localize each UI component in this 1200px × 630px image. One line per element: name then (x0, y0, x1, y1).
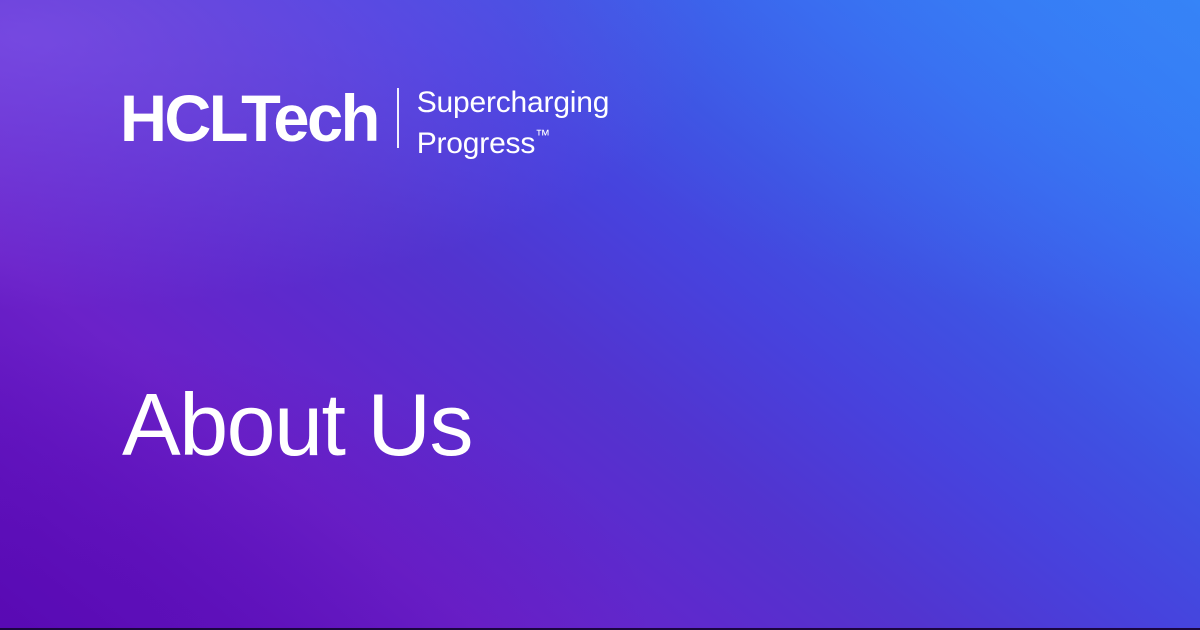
hcltech-wordmark: HCLTech (120, 85, 378, 151)
logo-divider-icon (397, 88, 399, 148)
hcltech-logo[interactable]: HCLTech Supercharging Progress™ (120, 82, 609, 154)
logo-tagline: Supercharging Progress™ (417, 86, 610, 160)
tagline-line-2-wrap: Progress™ (417, 119, 610, 160)
trademark-symbol: ™ (535, 127, 550, 144)
tagline-line-2: Progress (417, 127, 535, 160)
tagline-line-1: Supercharging (417, 86, 610, 119)
hero-banner: HCLTech Supercharging Progress™ About Us (0, 0, 1200, 630)
page-title: About Us (122, 377, 472, 473)
